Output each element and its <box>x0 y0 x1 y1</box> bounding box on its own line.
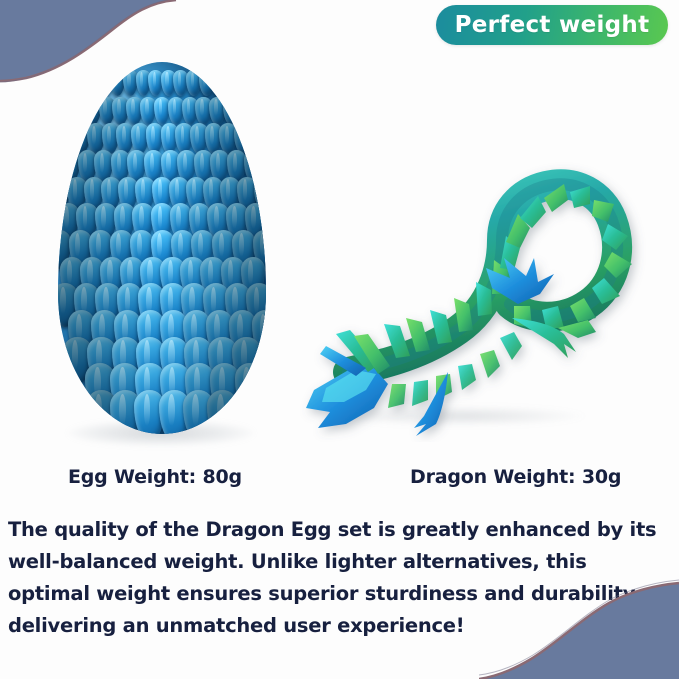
dragon-body-group <box>306 184 632 436</box>
badge-label: Perfect weight <box>455 12 650 38</box>
dragon-illustration <box>296 72 668 442</box>
egg-scale <box>251 97 266 125</box>
egg-scale <box>235 363 265 413</box>
egg-scale-pattern <box>58 62 266 434</box>
weight-captions: Egg Weight: 80g Dragon Weight: 30g <box>0 466 679 500</box>
dragon-egg-photo <box>46 48 278 458</box>
egg-scale <box>237 70 252 96</box>
perfect-weight-badge: Perfect weight <box>436 5 668 45</box>
product-photo-stage <box>0 48 679 458</box>
infographic-page: Perfect weight <box>0 0 679 679</box>
dragon-weight-label: Dragon Weight: 30g <box>410 466 621 488</box>
crystal-dragon-photo <box>296 72 668 442</box>
egg-weight-label: Egg Weight: 80g <box>68 466 242 488</box>
description-paragraph: The quality of the Dragon Egg set is gre… <box>8 514 674 642</box>
dragon-egg-body <box>58 62 266 434</box>
egg-scale <box>207 390 238 434</box>
dragon-spine <box>348 184 617 372</box>
